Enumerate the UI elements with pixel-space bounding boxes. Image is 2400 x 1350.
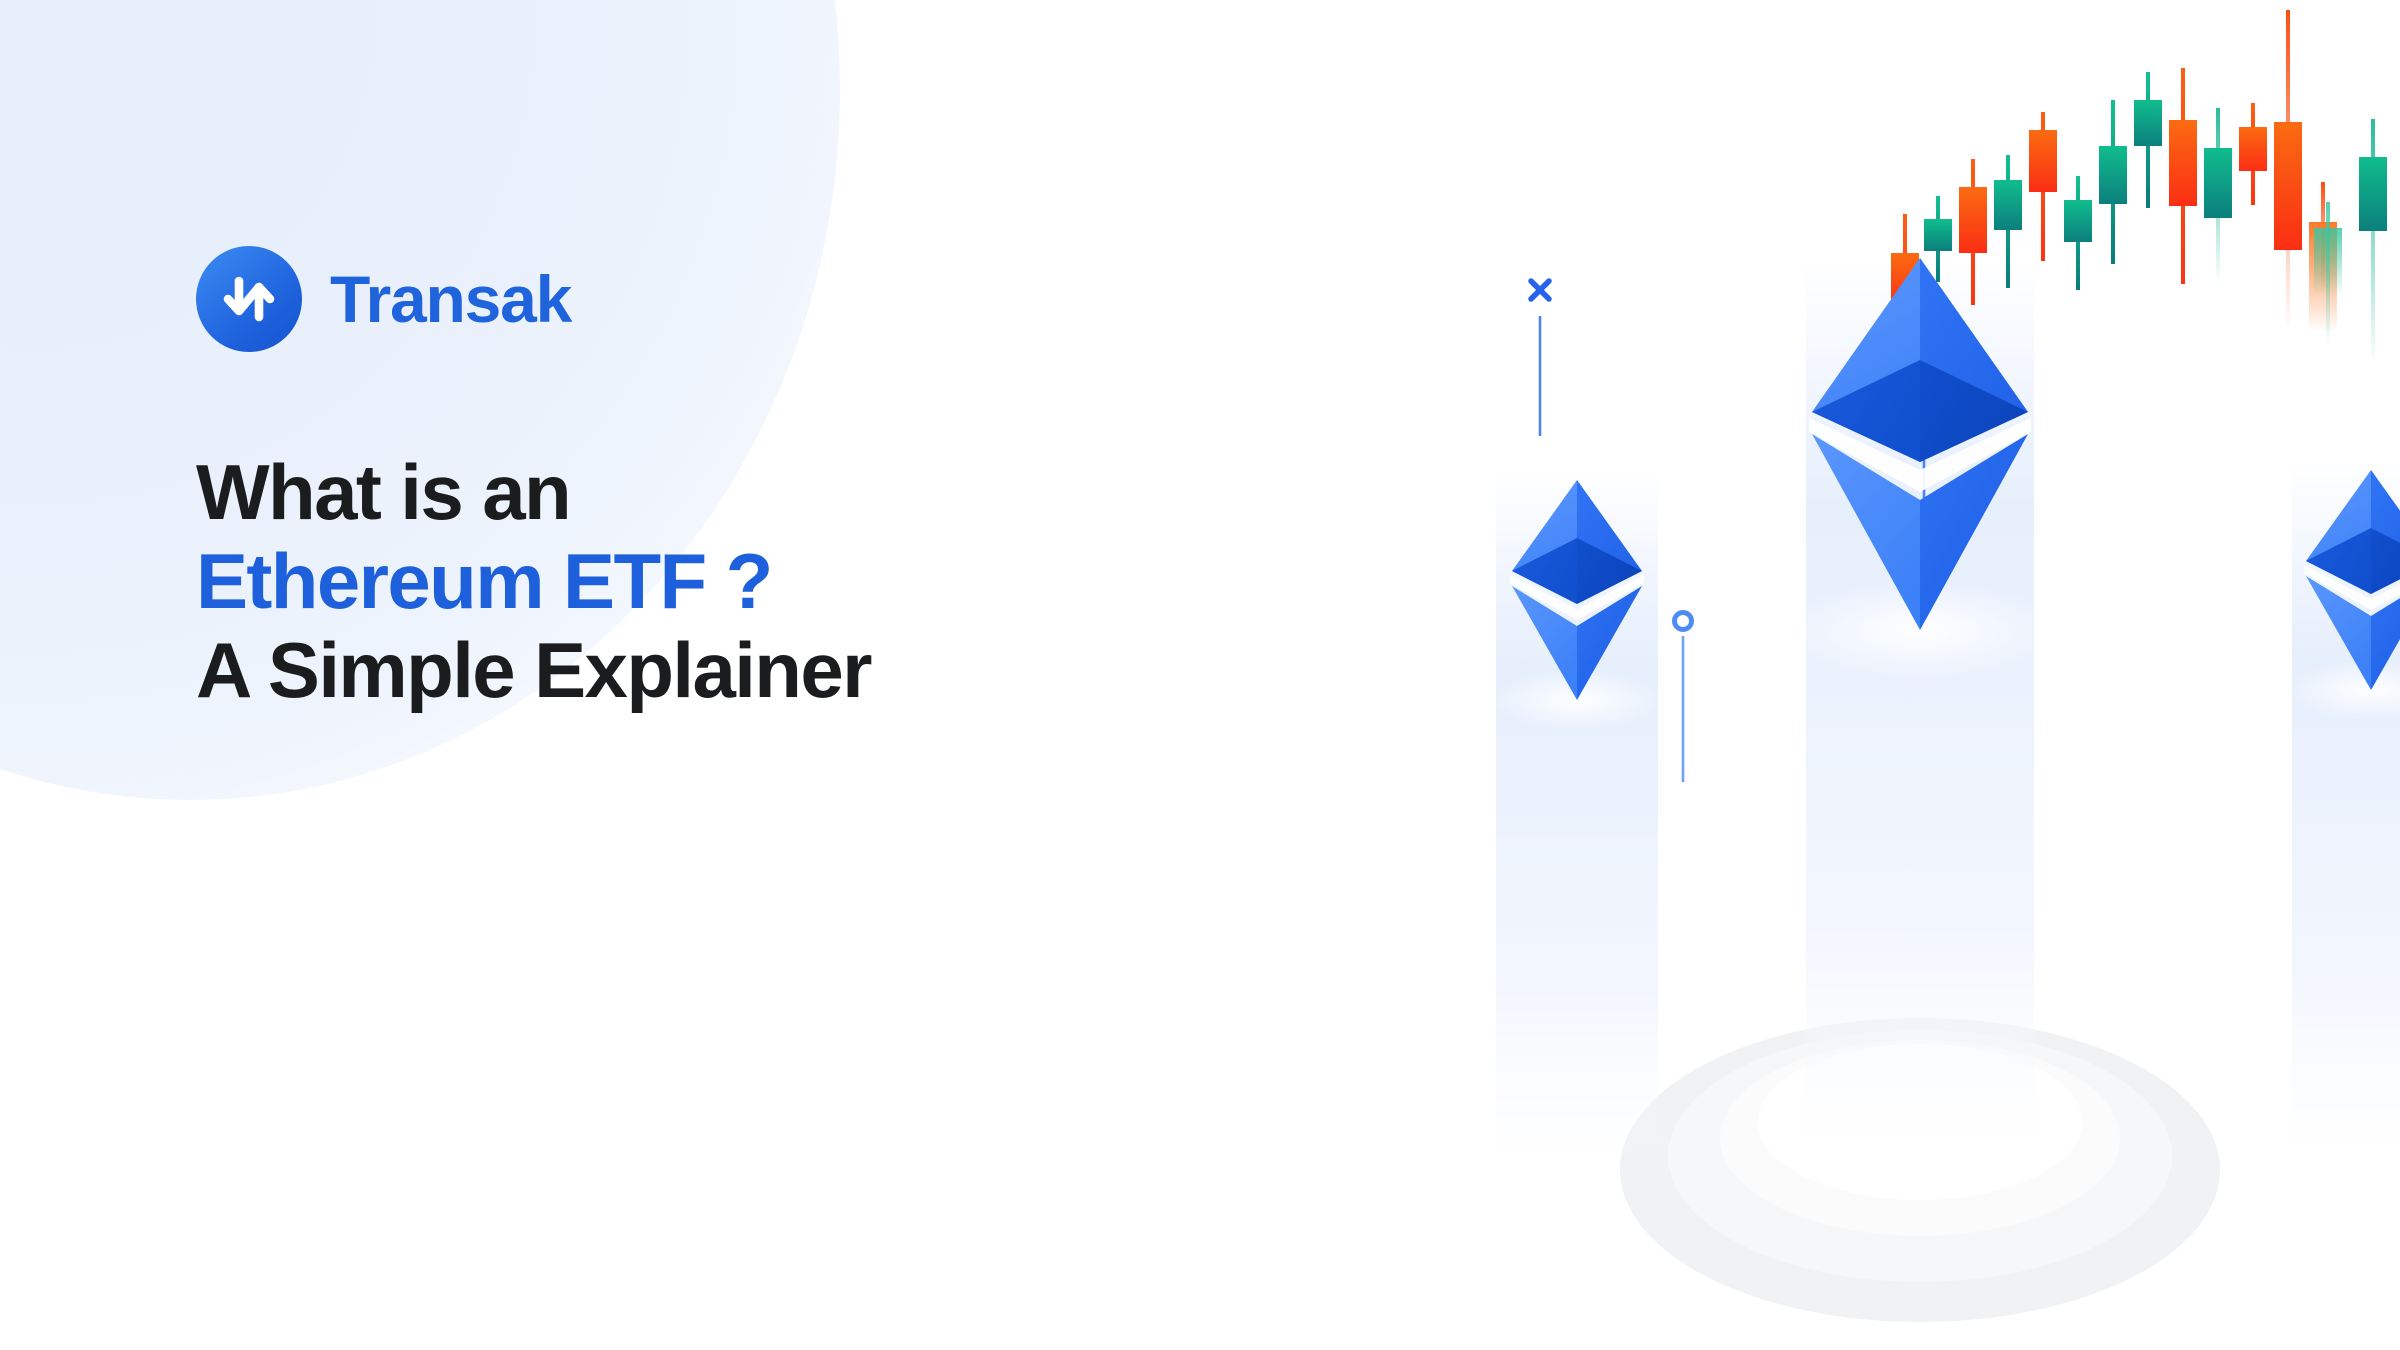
swap-arrows-icon <box>217 267 281 331</box>
headline-line-1: What is an <box>196 448 1276 537</box>
left-content-column: Transak What is an Ethereum ETF ? A Simp… <box>196 246 1276 715</box>
poster-canvas: Transak What is an Ethereum ETF ? A Simp… <box>0 0 2400 1350</box>
x-marker <box>1531 281 1549 436</box>
circle-marker <box>1675 613 1692 783</box>
headline-line-2: Ethereum ETF ? <box>196 537 1276 626</box>
brand-lockup: Transak <box>196 246 1276 352</box>
transak-logo-mark <box>196 246 302 352</box>
ethereum-etf-illustration <box>1300 0 2400 1350</box>
right-candle-group <box>2314 68 2400 474</box>
headline-line-3: A Simple Explainer <box>196 626 1276 715</box>
page-title: What is an Ethereum ETF ? A Simple Expla… <box>196 448 1276 715</box>
brand-name: Transak <box>330 266 571 332</box>
